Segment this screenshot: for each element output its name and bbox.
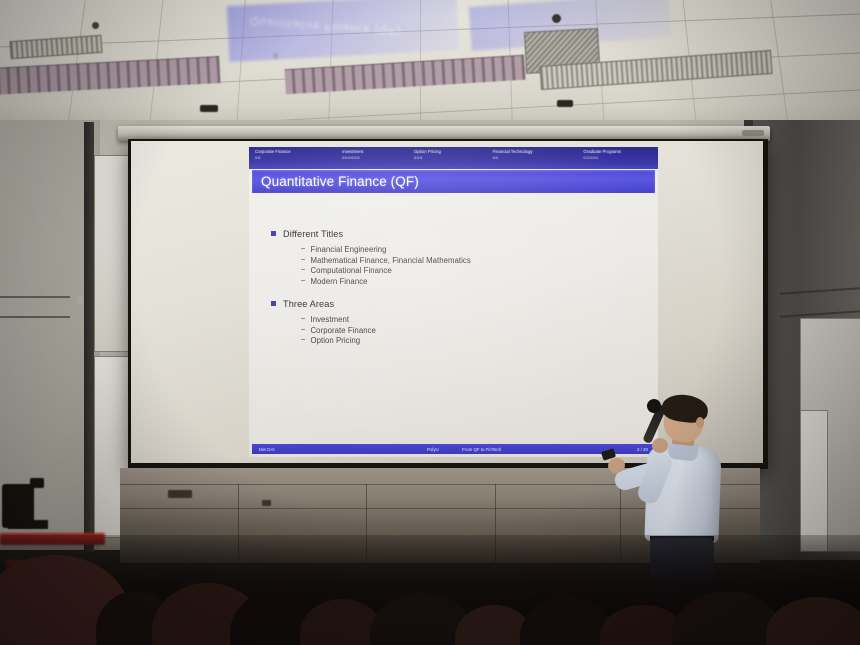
bullet-heading-three-areas: Three Areas <box>271 299 658 309</box>
ceiling-vent-left <box>9 35 102 59</box>
ceiling-mount <box>552 14 561 23</box>
ceiling-light-panel-right <box>284 55 525 95</box>
presentation-slide: Corporate Finance oo Investment oooooo O… <box>249 147 658 457</box>
dash-bullet-icon <box>301 329 305 330</box>
sub-bullet-item: Option Pricing <box>301 336 658 345</box>
square-bullet-icon <box>271 301 276 306</box>
nav-section-financial-technology[interactable]: Financial Technology oo <box>489 149 580 162</box>
nav-section-option-pricing[interactable]: Option Pricing ooo <box>411 149 490 162</box>
sub-bullet-text: Investment <box>311 315 350 324</box>
ceiling-light-panel-left <box>0 56 221 95</box>
mouse-cursor-on-slide <box>273 53 278 59</box>
ceiling-sensor <box>200 105 218 112</box>
presenter-right-hand <box>652 438 668 453</box>
sub-bullet-text: Option Pricing <box>311 336 361 345</box>
nav-section-graduate-programs[interactable]: Graduate Programs ooooo <box>580 149 658 162</box>
dash-bullet-icon <box>301 248 305 249</box>
sub-bullet-item: Financial Engineering <box>301 245 658 254</box>
sub-bullet-item: Mathematical Finance, Financial Mathemat… <box>301 256 658 265</box>
equipment-arm <box>30 478 44 488</box>
slide-body: Different Titles Financial Engineering M… <box>249 199 658 347</box>
nav-dots: oooooo <box>342 155 411 161</box>
sub-bullet-text: Modern Finance <box>311 277 368 286</box>
footer-institution: PolyU <box>427 447 439 452</box>
slide-title-bar: Quantitative Finance (QF) <box>252 170 655 193</box>
footer-talk-title: From QF to FinTech <box>462 447 501 452</box>
presenter-ear <box>696 417 704 428</box>
left-wall-knob <box>76 296 84 304</box>
sub-bullet-item: Modern Finance <box>301 277 658 286</box>
dash-bullet-icon <box>301 318 305 319</box>
ceiling-sensor-2 <box>557 100 573 107</box>
equipment-base <box>8 520 48 529</box>
sub-bullet-text: Mathematical Finance, Financial Mathemat… <box>311 256 471 265</box>
slide-footer-bar: Min DAI PolyU From QF to FinTech 2 / 20 <box>252 444 655 454</box>
sub-bullet-text: Financial Engineering <box>311 245 387 254</box>
sub-bullet-item: Corporate Finance <box>301 326 658 335</box>
bullet-heading-different-titles: Different Titles <box>271 229 658 239</box>
right-door-panel <box>800 410 828 552</box>
sub-bullet-item: Computational Finance <box>301 266 658 275</box>
sub-bullet-text: Computational Finance <box>311 266 392 275</box>
nav-section-investment[interactable]: Investment oooooo <box>339 149 411 162</box>
dash-bullet-icon <box>301 339 305 340</box>
sprinkler-head <box>92 22 99 29</box>
dash-bullet-icon <box>301 259 305 260</box>
wall-mounted-sensor <box>262 500 271 506</box>
housing-end-cap <box>742 130 764 136</box>
dash-bullet-icon <box>301 269 305 270</box>
ceiling: Quantitative Finance (QF) <box>0 0 860 140</box>
bullet-heading-text: Three Areas <box>283 299 334 309</box>
nav-section-corporate-finance[interactable]: Corporate Finance oo <box>249 149 339 162</box>
lecture-hall-scene: Quantitative Finance (QF) Corporate <box>0 0 860 645</box>
wall-mounted-box <box>168 490 192 498</box>
slide-title-text: Quantitative Finance (QF) <box>252 174 419 189</box>
nav-dots: oo <box>492 155 580 161</box>
bullet-heading-text: Different Titles <box>283 229 343 239</box>
square-bullet-icon <box>271 231 276 236</box>
nav-dots: ooo <box>414 155 490 161</box>
nav-dots: ooooo <box>583 155 658 161</box>
left-wall-trim-2 <box>0 316 70 318</box>
sub-bullet-text: Corporate Finance <box>311 326 376 335</box>
block-spacer <box>271 287 658 299</box>
left-wall-trim-1 <box>0 296 70 298</box>
left-pillar <box>84 122 94 552</box>
dash-bullet-icon <box>301 280 305 281</box>
slide-navigation-bar: Corporate Finance oo Investment oooooo O… <box>249 147 658 169</box>
left-whiteboard-upper <box>94 155 132 352</box>
sub-bullet-item: Investment <box>301 315 658 324</box>
nav-dots: oo <box>255 155 339 161</box>
footer-author: Min DAI <box>252 447 275 452</box>
